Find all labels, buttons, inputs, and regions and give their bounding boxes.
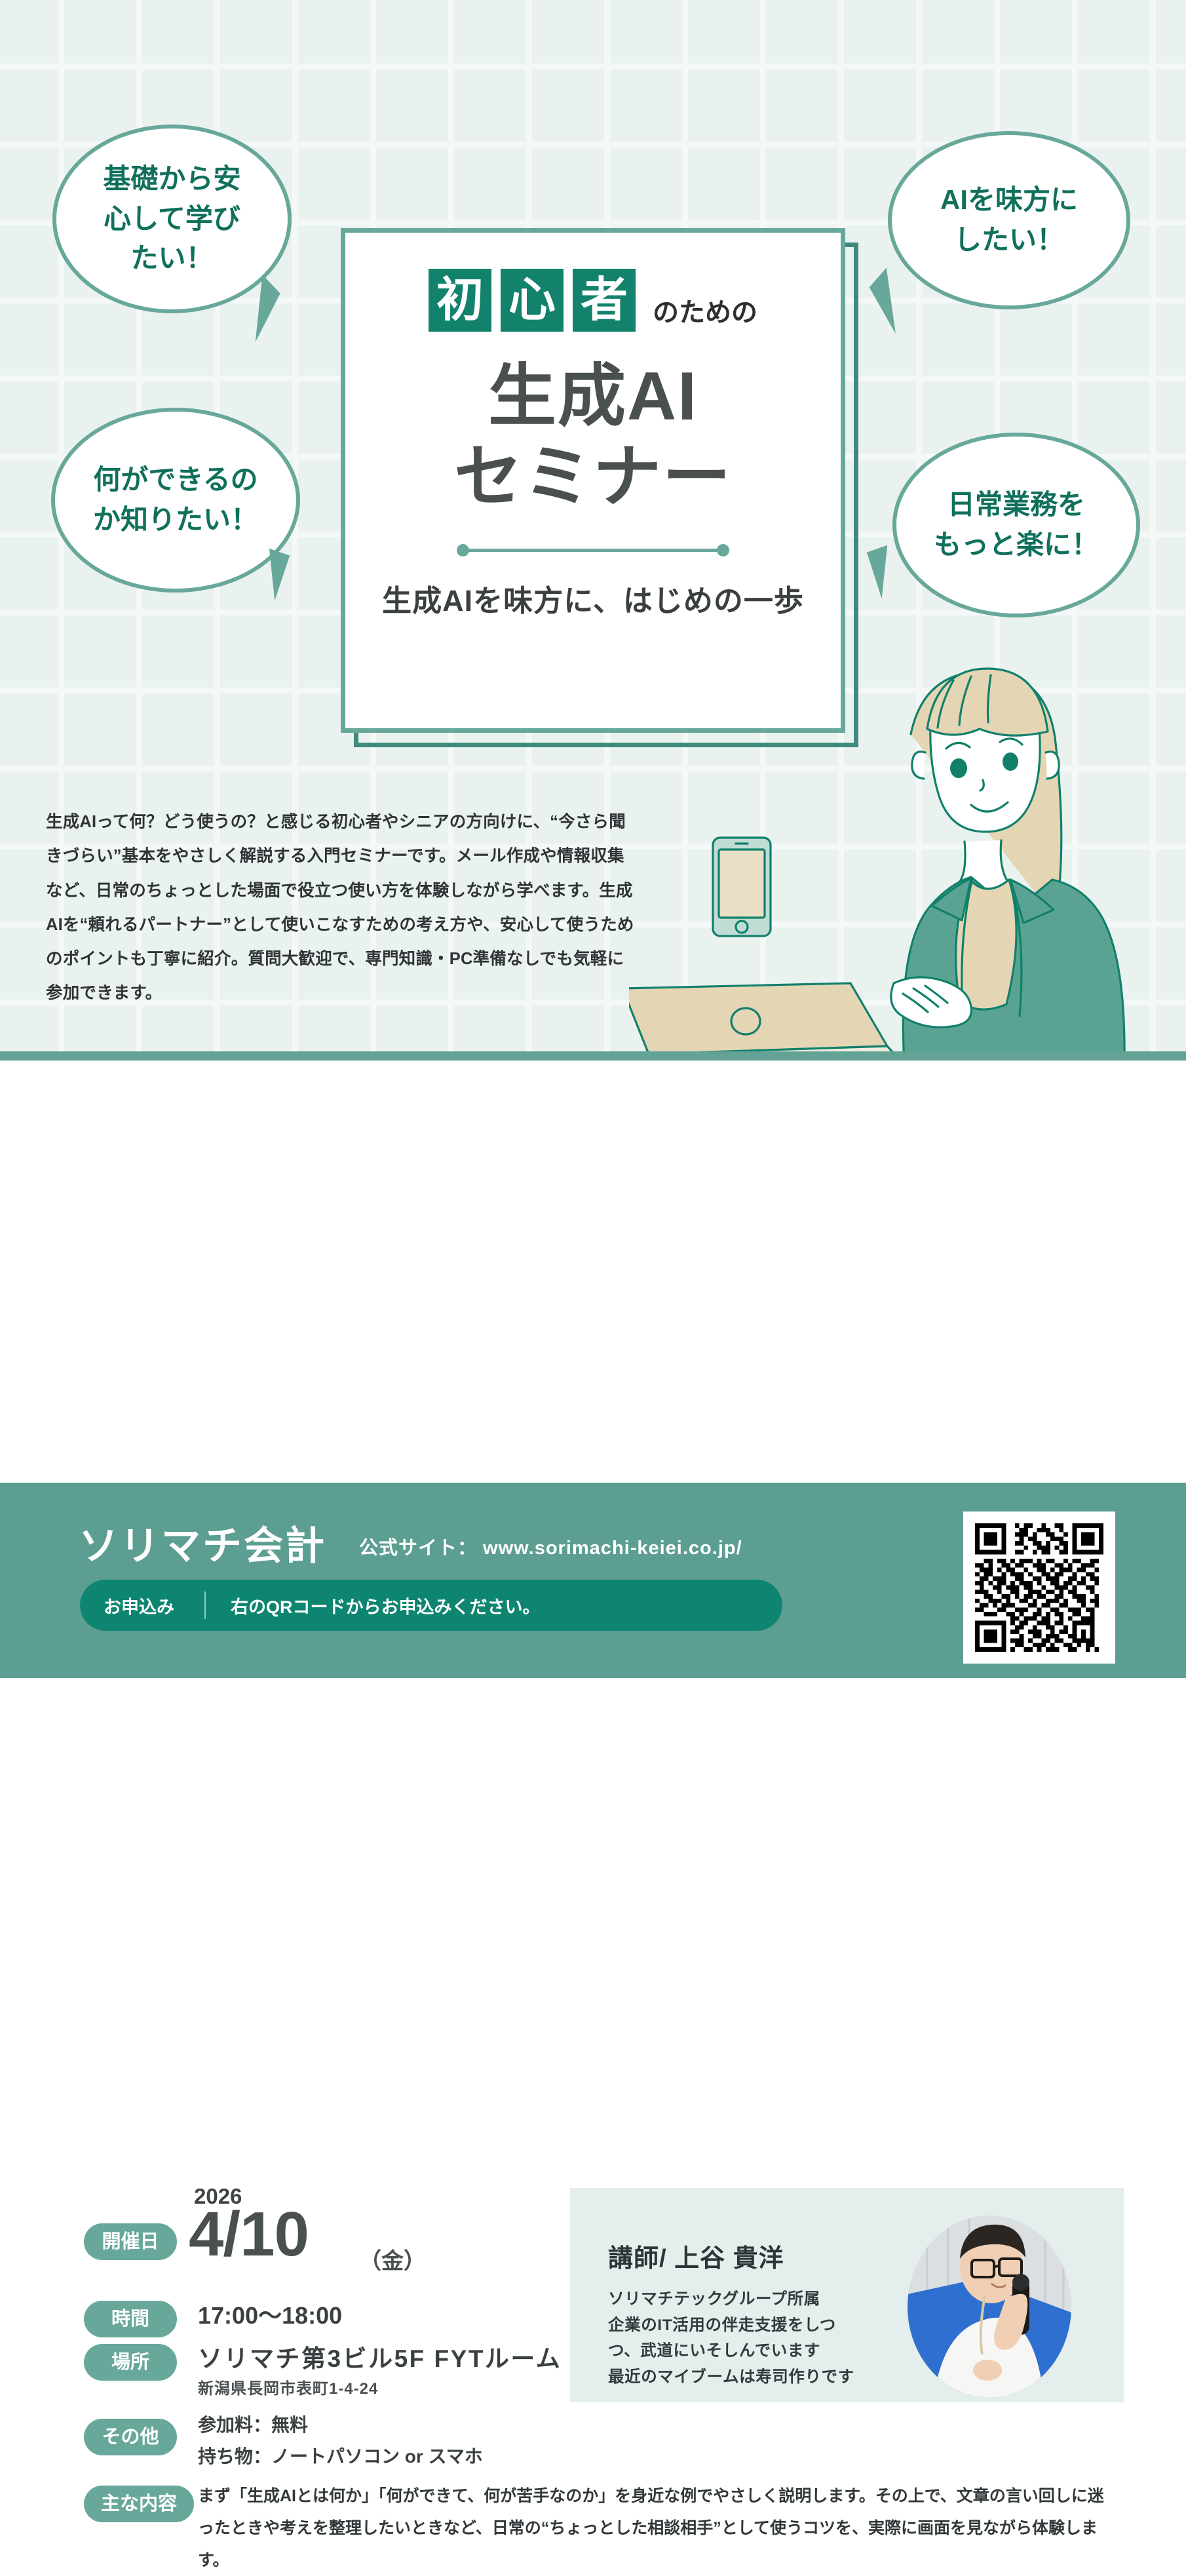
bubble-tail-top-right (867, 267, 896, 336)
detail-label-time: 時間 (84, 2301, 177, 2337)
bubble-line: 基礎から安 (91, 159, 252, 199)
bubble-line: 心して学び (91, 199, 252, 239)
bubble-line: か知りたい！ (81, 500, 270, 540)
bubble-line: 何ができるの (81, 460, 270, 500)
official-site-link[interactable]: 公式サイト： www.sorimachi-keiei.co.jp/ (359, 1532, 742, 1560)
bubble-line: 日常業務を (922, 485, 1111, 525)
detail-row-content: 主な内容 (84, 2486, 194, 2522)
title-card: 初 心 者 のための 生成AI セミナー 生成AIを味方に、はじめの一歩 (341, 228, 845, 733)
detail-label-date: 開催日 (84, 2223, 177, 2260)
speaker-photo (908, 2215, 1071, 2398)
page-title: 生成AI セミナー (454, 357, 732, 517)
apply-instruction: 右のQRコードからお申込みください。 (206, 1593, 541, 1618)
title-kanji-box: 初 (429, 269, 491, 332)
bubble-bottom-left: 何ができるの か知りたい！ (51, 408, 300, 593)
speaker-bio-line: ソリマチテックグループ所属 (608, 2286, 854, 2313)
event-bring: 持ち物：ノートパソコン or スマホ (198, 2442, 483, 2469)
bubble-line: もっと楽に！ (922, 525, 1111, 565)
company-logo: ソリマチ会計 (79, 1514, 326, 1571)
bubble-tail-top-left (256, 275, 282, 345)
event-fee: 参加料：無料 (198, 2411, 308, 2437)
speaker-name: 講師/ 上谷 貴洋 (608, 2238, 784, 2274)
bubble-line: したい！ (928, 220, 1090, 260)
detail-row-place: 場所 (84, 2344, 177, 2381)
speaker-bio-line: 最近のマイブームは寿司作りです (608, 2364, 854, 2391)
detail-label-content: 主な内容 (84, 2486, 194, 2522)
event-venue: ソリマチ第3ビル5F FYTルーム (198, 2339, 562, 2374)
bubble-top-right: AIを味方に したい！ (888, 131, 1130, 309)
detail-row-date: 開催日 (84, 2223, 177, 2260)
detail-row-time: 時間 (84, 2301, 177, 2337)
hero-section: 基礎から安 心して学び たい！ AIを味方に したい！ 何ができるの か知りたい… (0, 0, 1186, 1061)
title-main-line1: 生成AI (454, 357, 732, 437)
event-weekday: （金） (359, 2243, 426, 2275)
speaker-bio-line: つ、武道にいそしんでいます (608, 2338, 854, 2364)
title-tagline: 生成AIを味方に、はじめの一歩 (382, 577, 804, 619)
detail-label-other: その他 (84, 2419, 177, 2455)
detail-row-other: その他 (84, 2419, 177, 2455)
event-date: 4/10 (189, 2198, 309, 2271)
title-kanji-box: 者 (573, 269, 636, 332)
title-main-line2: セミナー (454, 437, 732, 518)
bubble-tail-bottom-left (269, 547, 294, 601)
event-content-text: まず「生成AIとは何か」「何ができて、何が苦手なのか」を身近な例でやさしく説明し… (198, 2480, 1115, 2576)
description-paragraph: 生成AIって何？どう使うの？と感じる初心者やシニアの方向けに、“今さら聞きづらい… (46, 805, 636, 1011)
details-section: 開催日 2026 4/10 （金） 時間 17:00〜18:00 場所 ソリマチ… (0, 1070, 1186, 1476)
bubble-line: AIを味方に (928, 180, 1090, 220)
title-kanji-suffix: のための (653, 291, 757, 332)
event-time-value: 17:00〜18:00 (198, 2297, 342, 2331)
speaker-card: 講師/ 上谷 貴洋 ソリマチテックグループ所属 企業のIT活用の伴走支援をしつ … (570, 2188, 1124, 2402)
detail-label-place: 場所 (84, 2344, 177, 2381)
title-kanji-row: 初 心 者 のための (429, 269, 757, 332)
hero-bottom-band (0, 1051, 1186, 1061)
bubble-top-left: 基礎から安 心して学び たい！ (52, 125, 292, 313)
event-address: 新潟県長岡市表町1-4-24 (198, 2375, 378, 2398)
bubble-bottom-right: 日常業務を もっと楽に！ (892, 433, 1140, 617)
phone-icon (713, 838, 771, 936)
bubble-line: たい！ (91, 239, 252, 279)
bubble-tail-bottom-right (862, 543, 887, 599)
speaker-bio: ソリマチテックグループ所属 企業のIT活用の伴走支援をしつ つ、武道にいそしんで… (608, 2286, 854, 2391)
qr-code[interactable] (963, 1512, 1115, 1664)
speaker-bio-line: 企業のIT活用の伴走支援をしつ (608, 2313, 854, 2339)
apply-label: お申込み (80, 1593, 204, 1618)
title-kanji-box: 心 (501, 269, 564, 332)
apply-bar[interactable]: お申込み 右のQRコードからお申込みください。 (80, 1580, 782, 1631)
title-divider-line (462, 549, 724, 552)
